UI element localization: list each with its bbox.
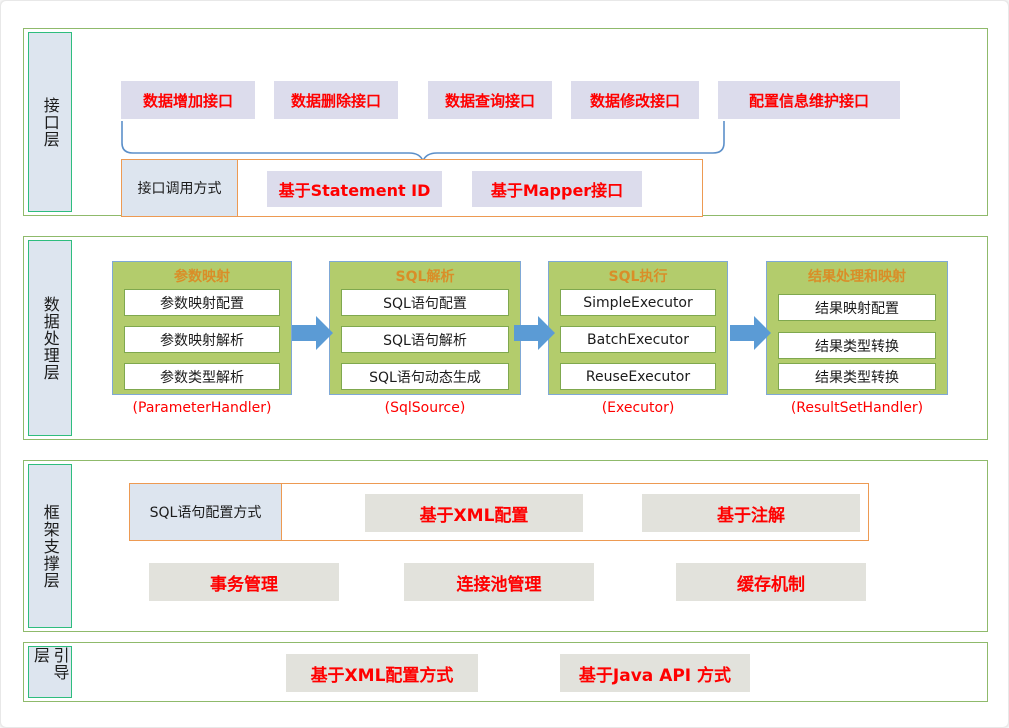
layer-bootstrap: 引导层 基于XML配置方式 基于Java API 方式 [23,642,988,702]
bootstrap-chip-xml-config[interactable]: 基于XML配置方式 [286,654,478,692]
group-title-parameter-mapping: 参数映射 [113,266,291,286]
group-caption-sql-source: (SqlSource) [329,400,521,416]
group-item[interactable]: 结果类型转换 [778,363,936,390]
layer-label-data-processing: 数据处理层 [28,240,72,436]
support-chip-connection-pool-management[interactable]: 连接池管理 [404,563,594,601]
group-caption-parameter-handler: (ParameterHandler) [112,400,292,416]
layer-label-bootstrap: 引导层 [28,646,72,698]
interface-call-method-label: 接口调用方式 [122,160,238,216]
group-item[interactable]: 参数类型解析 [124,363,280,390]
group-caption-resultset-handler: (ResultSetHandler) [766,400,948,416]
layer-data-processing: 数据处理层 参数映射 参数映射配置 参数映射解析 参数类型解析 (Paramet… [23,236,988,440]
group-parameter-mapping: 参数映射 参数映射配置 参数映射解析 参数类型解析 [112,261,292,395]
layer-interface: 接口层 数据增加接口 数据删除接口 数据查询接口 数据修改接口 配置信息维护接口… [23,28,988,216]
support-chip-cache-mechanism[interactable]: 缓存机制 [676,563,866,601]
diagram-canvas: 接口层 数据增加接口 数据删除接口 数据查询接口 数据修改接口 配置信息维护接口… [0,0,1009,728]
call-chip-statement-id[interactable]: 基于Statement ID [267,171,442,207]
group-item[interactable]: 结果类型转换 [778,332,936,359]
layer-label-framework-support: 框架支撑层 [28,464,72,628]
call-chip-mapper-interface[interactable]: 基于Mapper接口 [472,171,642,207]
layer-framework-support: 框架支撑层 SQL语句配置方式 基于XML配置 基于注解 事务管理 连接池管理 … [23,460,988,632]
group-item[interactable]: SimpleExecutor [560,289,716,316]
group-title-sql-parsing: SQL解析 [330,266,520,286]
interface-call-method-box: 接口调用方式 基于Statement ID 基于Mapper接口 [121,159,703,217]
api-chip-data-add[interactable]: 数据增加接口 [121,81,255,119]
group-item[interactable]: 参数映射解析 [124,326,280,353]
sql-config-method-box: SQL语句配置方式 基于XML配置 基于注解 [129,483,869,541]
group-caption-executor: (Executor) [548,400,728,416]
group-item[interactable]: SQL语句配置 [341,289,509,316]
arrow-execute-to-result [730,315,772,351]
layer-label-interface: 接口层 [28,32,72,212]
group-sql-parsing: SQL解析 SQL语句配置 SQL语句解析 SQL语句动态生成 [329,261,521,395]
sql-config-chip-annotation[interactable]: 基于注解 [642,494,860,532]
group-sql-execution: SQL执行 SimpleExecutor BatchExecutor Reuse… [548,261,728,395]
support-chip-transaction-management[interactable]: 事务管理 [149,563,339,601]
group-item[interactable]: SQL语句动态生成 [341,363,509,390]
group-item[interactable]: ReuseExecutor [560,363,716,390]
group-item[interactable]: 结果映射配置 [778,294,936,321]
api-chip-config-maintenance[interactable]: 配置信息维护接口 [718,81,900,119]
bootstrap-chip-java-api[interactable]: 基于Java API 方式 [560,654,750,692]
api-chip-data-delete[interactable]: 数据删除接口 [274,81,398,119]
arrow-params-to-sqlparse [292,315,334,351]
group-item[interactable]: SQL语句解析 [341,326,509,353]
curly-brace-connector [119,121,739,163]
arrow-sqlparse-to-execute [514,315,556,351]
sql-config-method-label: SQL语句配置方式 [130,484,282,540]
api-chip-data-query[interactable]: 数据查询接口 [428,81,552,119]
group-title-sql-execution: SQL执行 [549,266,727,286]
group-item[interactable]: BatchExecutor [560,326,716,353]
sql-config-chip-xml[interactable]: 基于XML配置 [365,494,583,532]
group-title-result-handling: 结果处理和映射 [767,266,947,286]
group-result-handling: 结果处理和映射 结果映射配置 结果类型转换 结果类型转换 [766,261,948,395]
group-item[interactable]: 参数映射配置 [124,289,280,316]
api-chip-data-update[interactable]: 数据修改接口 [571,81,699,119]
